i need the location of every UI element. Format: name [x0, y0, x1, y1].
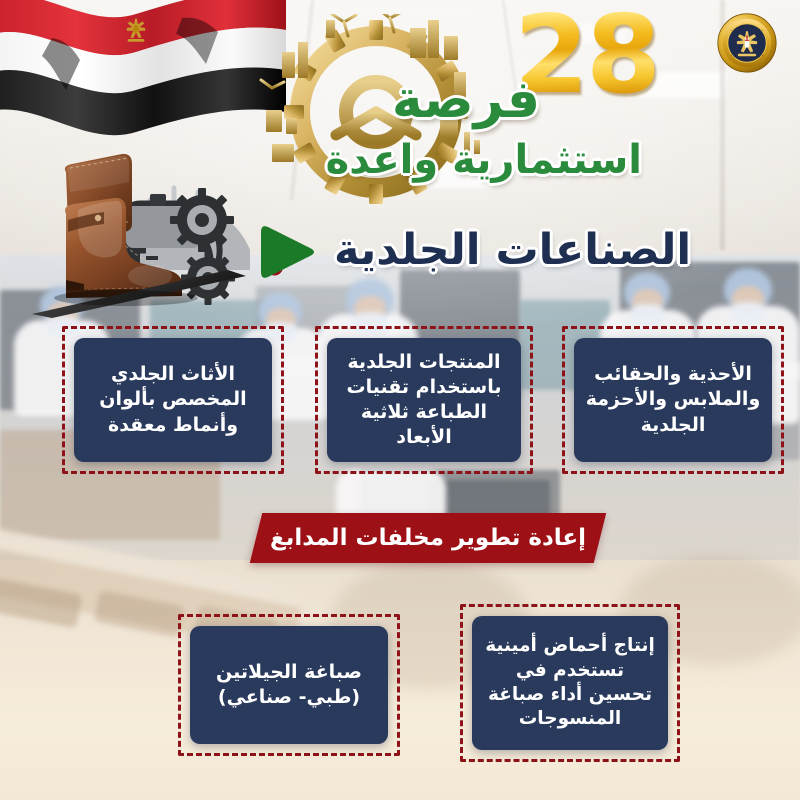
opportunity-card-3d-printed-leather[interactable]: المنتجات الجلدية باستخدام تقنيات الطباعة…: [315, 326, 533, 474]
card-text: صباغة الجيلاتين (طبي- صناعي): [200, 660, 378, 710]
section-title-row: الصناعات الجلدية: [250, 212, 690, 290]
leather-boot-icon: [22, 138, 257, 318]
gear-icon: [258, 14, 498, 204]
card-body: الأحذية والحقائب والملابس والأحزمة الجلد…: [574, 338, 772, 462]
opportunity-card-shoes-bags-clothes-belts[interactable]: الأحذية والحقائب والملابس والأحزمة الجلد…: [562, 326, 784, 474]
card-text: إنتاج أحماض أمينية تستخدم في تحسين أداء …: [482, 634, 658, 732]
infographic-poster: 28 فرصة استثمارية واعدة: [0, 0, 800, 800]
card-body: المنتجات الجلدية باستخدام تقنيات الطباعة…: [327, 338, 521, 462]
card-text: الأحذية والحقائب والملابس والأحزمة الجلد…: [584, 362, 762, 437]
card-text: المنتجات الجلدية باستخدام تقنيات الطباعة…: [337, 350, 511, 450]
egypt-flag-icon: [0, 0, 286, 154]
card-body: الأثاث الجلدي المخصص بألوان وأنماط معقدة: [74, 338, 272, 462]
page-title: الصناعات الجلدية: [334, 228, 691, 273]
opportunity-card-amino-acids[interactable]: إنتاج أحماض أمينية تستخدم في تحسين أداء …: [460, 604, 680, 762]
opportunity-card-gelatin-dyeing[interactable]: صباغة الجيلاتين (طبي- صناعي): [178, 614, 400, 756]
card-body: صباغة الجيلاتين (طبي- صناعي): [190, 626, 388, 744]
card-text: الأثاث الجلدي المخصص بألوان وأنماط معقدة: [84, 362, 262, 437]
card-body: إنتاج أحماض أمينية تستخدم في تحسين أداء …: [472, 616, 668, 750]
banner-label: إعادة تطوير مخلفات المدابغ: [256, 513, 600, 563]
green-play-triangle-icon: [250, 215, 322, 287]
ministry-of-industry-seal-icon: [716, 12, 778, 74]
opportunity-card-leather-furniture[interactable]: الأثاث الجلدي المخصص بألوان وأنماط معقدة: [62, 326, 284, 474]
